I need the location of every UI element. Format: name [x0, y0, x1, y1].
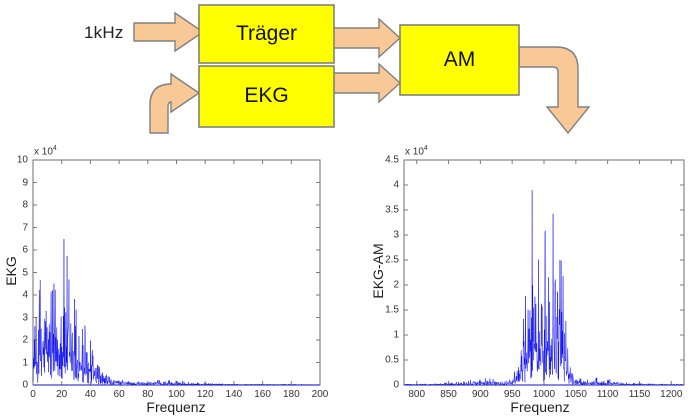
svg-right-xtick: 850 [440, 389, 457, 400]
svg-left-ytick: 7 [0, 222, 28, 233]
svg-right-xtick: 1000 [533, 389, 555, 400]
svg-left-xtick: 60 [114, 389, 125, 400]
left-y-axis-multiplier: x 104 [34, 145, 57, 157]
chart-ekg-am-spectrum: x 104 EKG-AM Frequenz 800850900950100010… [350, 138, 697, 420]
svg-left-ytick: 10 [0, 155, 28, 166]
left-x-axis-title: Frequenz [146, 399, 205, 415]
screenshot-root: 1kHz Träger EKG AM x 104 EKG Frequenz 02… [0, 0, 697, 420]
svg-left-xtick: 140 [226, 389, 243, 400]
svg-left-xtick: 40 [85, 389, 96, 400]
svg-left-ytick: 6 [0, 245, 28, 256]
right-y-axis-multiplier: x 104 [405, 145, 428, 157]
svg-left-xtick: 80 [142, 389, 153, 400]
svg-left-xtick: 100 [168, 389, 185, 400]
svg-right-xtick: 1150 [629, 389, 651, 400]
block-diagram: 1kHz Träger EKG AM [0, 0, 697, 140]
svg-left-ytick: 5 [0, 267, 28, 278]
block-diagram-svg [0, 0, 697, 140]
block-ekg-label: EKG [199, 84, 334, 108]
ekg-to-am-arrow [333, 64, 400, 102]
svg-left-xtick: 120 [197, 389, 214, 400]
svg-right-ytick: 2.5 [350, 255, 399, 266]
chart-ekg-spectrum: x 104 EKG Frequenz 020406080100120140160… [0, 138, 350, 420]
svg-right-xtick: 1100 [597, 389, 619, 400]
svg-right-xtick: 1050 [565, 389, 587, 400]
ekg-source-arrow [150, 74, 199, 133]
svg-right-ytick: 2 [350, 280, 399, 291]
svg-right-ytick: 0 [350, 380, 399, 391]
svg-left-ytick: 3 [0, 312, 28, 323]
svg-right-ytick: 1.5 [350, 305, 399, 316]
svg-left-ytick: 2 [0, 335, 28, 346]
svg-left-xtick: 160 [254, 389, 271, 400]
svg-right-xtick: 800 [408, 389, 425, 400]
ekg-am-spectrum-plot [350, 138, 697, 420]
right-x-axis-title: Frequenz [510, 399, 569, 415]
svg-right-ytick: 3 [350, 230, 399, 241]
am-output-arrow [519, 47, 589, 133]
svg-right-ytick: 0.5 [350, 355, 399, 366]
svg-right-ytick: 1 [350, 330, 399, 341]
ekg-spectrum-plot [0, 138, 350, 420]
svg-left-ytick: 1 [0, 357, 28, 368]
traeger-to-am-arrow [333, 19, 400, 57]
input-1khz-arrow [134, 13, 203, 51]
svg-left-ytick: 0 [0, 380, 28, 391]
svg-left-xtick: 0 [30, 389, 36, 400]
svg-left-ytick: 8 [0, 200, 28, 211]
input-frequency-label: 1kHz [84, 23, 124, 43]
block-am-label: AM [400, 48, 519, 72]
svg-right-xtick: 950 [504, 389, 521, 400]
svg-right-xtick: 900 [472, 389, 489, 400]
svg-left-xtick: 200 [312, 389, 329, 400]
svg-left-xtick: 180 [283, 389, 300, 400]
svg-right-ytick: 4 [350, 180, 399, 191]
svg-left-xtick: 20 [56, 389, 67, 400]
svg-left-ytick: 9 [0, 177, 28, 188]
svg-right-xtick: 1200 [660, 389, 682, 400]
svg-right-ytick: 3.5 [350, 205, 399, 216]
block-traeger-label: Träger [199, 22, 334, 46]
svg-left-ytick: 4 [0, 290, 28, 301]
svg-right-ytick: 4.5 [350, 155, 399, 166]
